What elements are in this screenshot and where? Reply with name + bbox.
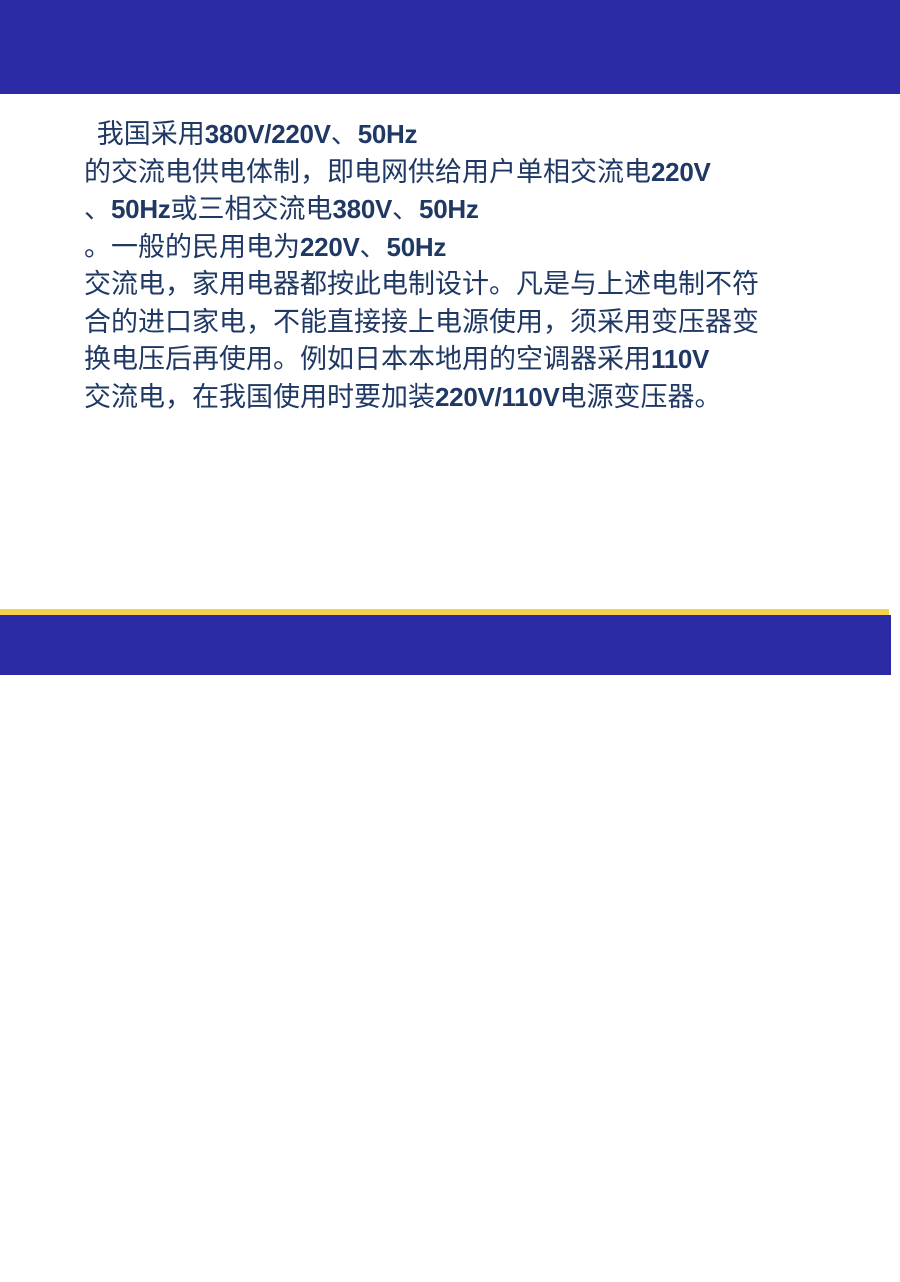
- body-line-latin-run: 220V: [300, 232, 360, 262]
- body-line: 交流电，在我国使用时要加装220V/110V电源变压器。: [84, 379, 874, 417]
- body-line-latin-run: 380V/220V: [205, 119, 331, 149]
- body-line: 换电压后再使用。例如日本本地用的空调器采用110V: [84, 341, 874, 379]
- body-line: 的交流电供电体制，即电网供给用户单相交流电220V: [84, 154, 874, 192]
- body-line-cjk-run: 我国采用: [90, 119, 205, 149]
- body-line-cjk-run: 的交流电供电体制，即电网供给用户单相交流电: [84, 157, 651, 187]
- body-line-latin-run: 380V: [333, 194, 393, 224]
- body-line-cjk-run: 、: [84, 194, 111, 224]
- body-line-cjk-run: 、: [360, 232, 387, 262]
- body-line-cjk-run: 换电压后再使用。例如日本本地用的空调器采用: [84, 344, 651, 374]
- body-line-latin-run: 220V: [651, 157, 711, 187]
- body-line-cjk-run: 。一般的民用电为: [84, 232, 300, 262]
- slide: 我国采用380V/220V、50Hz的交流电供电体制，即电网供给用户单相交流电2…: [0, 0, 900, 675]
- body-line-latin-run: 50Hz: [419, 194, 479, 224]
- body-line-latin-run: 110V: [651, 344, 709, 374]
- body-line-cjk-run: 电源变压器。: [560, 382, 722, 412]
- body-line-cjk-run: 或三相交流电: [171, 194, 333, 224]
- suning-logo: SUNING 苏宁电器: [727, 1258, 869, 1282]
- body-line-cjk-run: 交流电，家用电器都按此电制设计。凡是与上述电制不符: [84, 269, 759, 299]
- copyright-text: © Copyright suning appliance 2010: [27, 1260, 213, 1272]
- body-line-latin-run: 50Hz: [358, 119, 418, 149]
- body-line-latin-run: 50Hz: [111, 194, 171, 224]
- body-text-block: 我国采用380V/220V、50Hz的交流电供电体制，即电网供给用户单相交流电2…: [84, 116, 874, 416]
- top-banner-band: [0, 0, 900, 94]
- logo-chinese-text: 苏宁电器: [795, 1258, 859, 1282]
- body-line: 。一般的民用电为220V、50Hz: [84, 229, 874, 267]
- logo-divider-bar: [867, 1262, 869, 1279]
- body-line-cjk-run: 、: [392, 194, 419, 224]
- logo-latin-text: SUNING: [728, 1260, 788, 1280]
- body-line: 、50Hz或三相交流电380V、50Hz: [84, 191, 874, 229]
- body-line: 合的进口家电，不能直接接上电源使用，须采用变压器变: [84, 304, 874, 342]
- body-line-cjk-run: 交流电，在我国使用时要加装: [84, 382, 435, 412]
- body-line: 我国采用380V/220V、50Hz: [84, 116, 874, 154]
- body-line-cjk-run: 、: [331, 119, 358, 149]
- body-line-latin-run: 50Hz: [387, 232, 447, 262]
- body-line: 交流电，家用电器都按此电制设计。凡是与上述电制不符: [84, 266, 874, 304]
- body-line-latin-run: 220V/110V: [435, 382, 560, 412]
- body-line-cjk-run: 合的进口家电，不能直接接上电源使用，须采用变压器变: [84, 307, 759, 337]
- footer-band: © Copyright suning appliance 2010 SUNING…: [0, 615, 891, 675]
